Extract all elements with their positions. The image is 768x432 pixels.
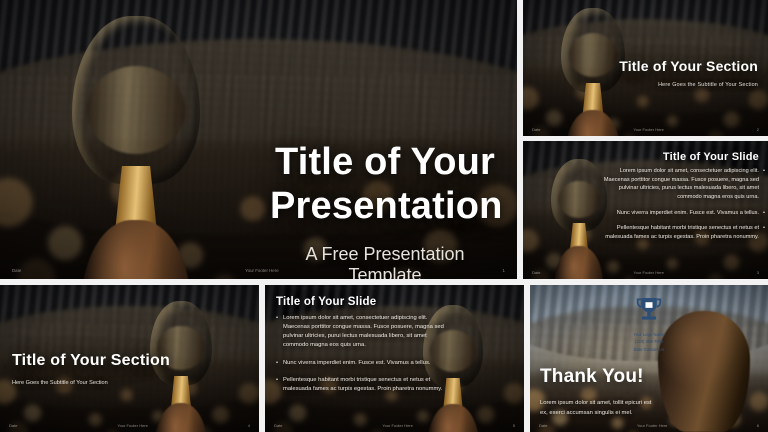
content-bullet-list: •Lorem ipsum dolor sit amet, consectetue… (594, 167, 759, 249)
slide-title-text: Title of Your Presentation (270, 140, 500, 228)
section-subtitle-text: Here Goes the Subtitle of Your Section (608, 82, 758, 88)
contact-info: Your Logo Name (123) 456-7890 Date Conta… (604, 331, 694, 353)
template-preview-board: Title of Your Presentation A Free Presen… (0, 0, 768, 432)
footer-page-number: 2 (757, 127, 759, 132)
slide-footer: Date Your Footer Here 4 (0, 423, 259, 432)
section-subtitle-text: Here Goes the Subtitle of Your Section (12, 380, 192, 386)
bullet-icon: • (276, 376, 278, 385)
footer-date: Date (532, 127, 540, 132)
content-title-text: Title of Your Slide (663, 151, 759, 163)
bullet-icon: • (763, 224, 765, 233)
list-item: •Pellentesque habitant morbi tristique s… (276, 376, 444, 394)
footer-page-number: 3 (757, 270, 759, 275)
trophy-icon (72, 16, 200, 279)
footer-page-number: 6 (757, 423, 759, 428)
list-item: •Lorem ipsum dolor sit amet, consectetue… (276, 314, 444, 351)
list-item: •Nunc viverra imperdiet enim. Fusce est.… (276, 359, 444, 368)
footer-page-number: 1 (503, 268, 505, 273)
footer-date: Date (12, 268, 21, 273)
bullet-icon: • (276, 314, 278, 323)
slide-footer: Date Your Footer Here 1 (0, 268, 517, 279)
section-title-text: Title of Your Section (608, 58, 758, 75)
thank-you-title: Thank You! (540, 366, 644, 388)
list-item: •Pellentesque habitant morbi tristique s… (594, 224, 759, 241)
footer-center: Your Footer Here (633, 270, 664, 275)
bullet-icon: • (763, 167, 765, 176)
slide-footer: Date Your Footer Here 6 (530, 423, 768, 432)
content-bullet-list: •Lorem ipsum dolor sit amet, consectetue… (276, 314, 444, 402)
bullet-icon: • (763, 209, 765, 218)
footer-date: Date (274, 423, 282, 428)
footer-date: Date (9, 423, 17, 428)
footer-center: Your Footer Here (245, 268, 279, 273)
footer-center: Your Footer Here (633, 127, 664, 132)
slide-footer: Date Your Footer Here 2 (523, 127, 768, 136)
slide-content-1[interactable]: Title of Your Slide •Lorem ipsum dolor s… (523, 141, 768, 279)
list-item: •Lorem ipsum dolor sit amet, consectetue… (594, 167, 759, 202)
footer-center: Your Footer Here (637, 423, 668, 428)
slide-title[interactable]: Title of Your Presentation A Free Presen… (0, 0, 517, 279)
slide-content-2[interactable]: Title of Your Slide •Lorem ipsum dolor s… (265, 285, 524, 432)
slide-section-header-2[interactable]: Title of Your Section Here Goes the Subt… (0, 285, 259, 432)
footer-center: Your Footer Here (117, 423, 148, 428)
list-item: •Nunc viverra imperdiet enim. Fusce est.… (594, 209, 759, 218)
footer-page-number: 4 (248, 423, 250, 428)
trophy-logo (632, 293, 666, 327)
bullet-icon: • (276, 359, 278, 368)
footer-date: Date (532, 270, 540, 275)
footer-center: Your Footer Here (382, 423, 413, 428)
section-title-text: Title of Your Section (12, 351, 192, 371)
footer-date: Date (539, 423, 547, 428)
thank-you-body: Lorem ipsum dolor sit amet, tollit epicu… (540, 399, 660, 418)
footer-page-number: 5 (513, 423, 515, 428)
slide-footer: Date Your Footer Here 3 (523, 270, 768, 279)
fan-silhouette (658, 311, 750, 432)
slide-section-header-1[interactable]: Title of Your Section Here Goes the Subt… (523, 0, 768, 136)
slide-thank-you[interactable]: Your Logo Name (123) 456-7890 Date Conta… (530, 285, 768, 432)
slide-footer: Date Your Footer Here 5 (265, 423, 524, 432)
content-title-text: Title of Your Slide (276, 296, 376, 308)
